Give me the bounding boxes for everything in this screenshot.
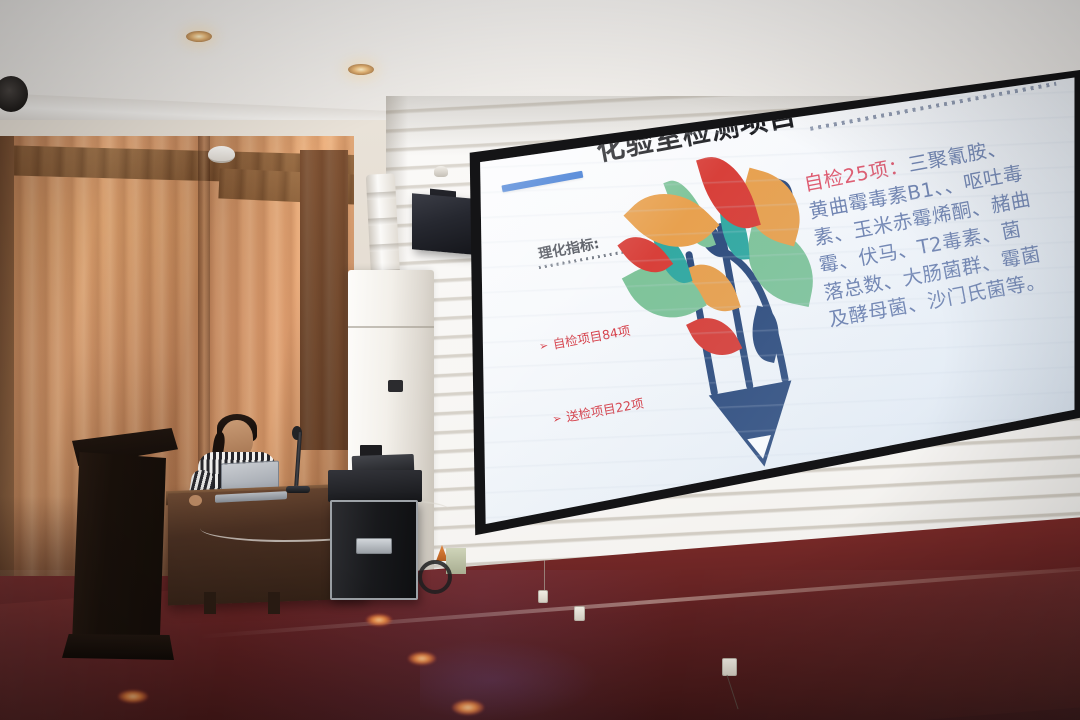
ac-display-panel	[388, 380, 403, 392]
presentation-room-photo: 化验室检测项目 理化指标: 卫生指标： ➢ 自检项目84项 ➢ 送检项目22项 …	[0, 0, 1080, 720]
wall-outlet	[722, 658, 737, 676]
case-handle	[356, 538, 392, 554]
desk-leg	[204, 592, 216, 614]
duct-ring	[367, 191, 396, 200]
coiled-cable	[418, 560, 452, 594]
microphone-base	[286, 486, 310, 493]
wall-wire	[544, 560, 545, 592]
duct-ring	[369, 243, 398, 252]
cctv-camera-icon	[434, 166, 448, 177]
wall-outlet	[538, 590, 548, 603]
desk-leg	[268, 592, 280, 614]
equipment-flight-case	[330, 500, 418, 600]
ac-seam	[348, 326, 434, 328]
podium	[72, 452, 166, 652]
wall-speaker-icon	[412, 193, 474, 254]
downlight-icon	[348, 64, 374, 75]
smoke-detector-icon	[208, 146, 235, 163]
audio-mixer	[328, 470, 422, 502]
podium-base	[62, 634, 174, 660]
wall-outlet	[574, 606, 585, 621]
duct-ring	[368, 217, 397, 226]
curtain-strip-far	[300, 150, 348, 450]
presenter-hand	[189, 495, 202, 506]
downlight-icon	[186, 31, 212, 42]
